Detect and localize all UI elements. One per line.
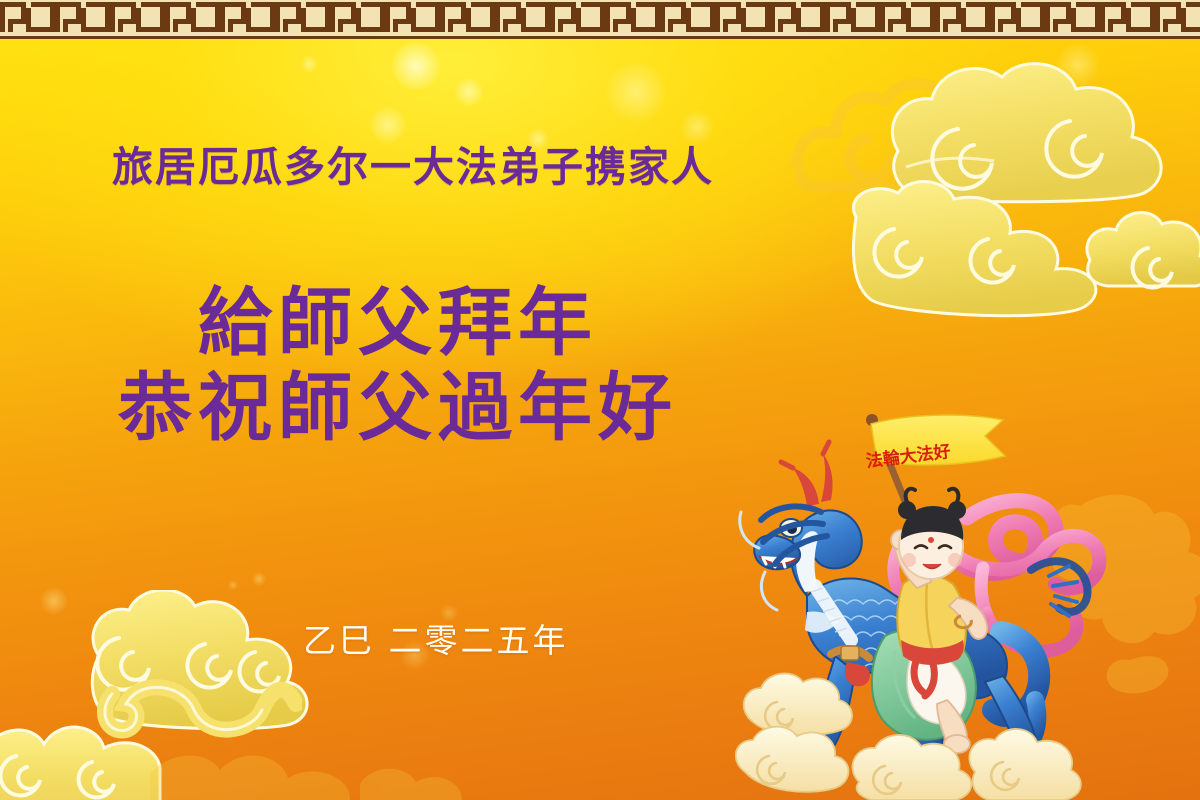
meander-unit [825,0,880,39]
meander-unit [495,0,550,39]
meander-unit [990,0,1045,39]
date-line: 乙巳 二零二五年 [303,614,569,662]
meander-unit [1155,0,1200,39]
meander-unit [550,0,605,39]
meander-unit [880,0,935,39]
meander-unit [55,0,110,39]
top-decorative-border [0,0,1200,39]
meander-unit [1100,0,1155,39]
meander-unit [770,0,825,39]
meander-unit [165,0,220,39]
meander-unit [1045,0,1100,39]
greeting-line-2: 恭祝師父過年好 [118,348,678,455]
meander-unit [110,0,165,39]
meander-unit [385,0,440,39]
meander-unit [935,0,990,39]
meander-unit [440,0,495,39]
meander-unit [275,0,330,39]
meander-unit [605,0,660,39]
meander-unit [0,0,55,39]
text-layer: 旅居厄瓜多尔一大法弟子携家人 給師父拜年 恭祝師父過年好 乙巳 二零二五年 [0,0,1200,800]
meander-unit [660,0,715,39]
meander-pattern [0,0,1200,36]
meander-unit [330,0,385,39]
greeting-card: 法輪大法好 旅居厄瓜多尔一大法弟子携家人 給師父拜年 恭祝師父過年好 乙巳 二零… [0,0,1200,800]
meander-unit [715,0,770,39]
sender-line: 旅居厄瓜多尔一大法弟子携家人 [112,133,714,193]
meander-unit [220,0,275,39]
